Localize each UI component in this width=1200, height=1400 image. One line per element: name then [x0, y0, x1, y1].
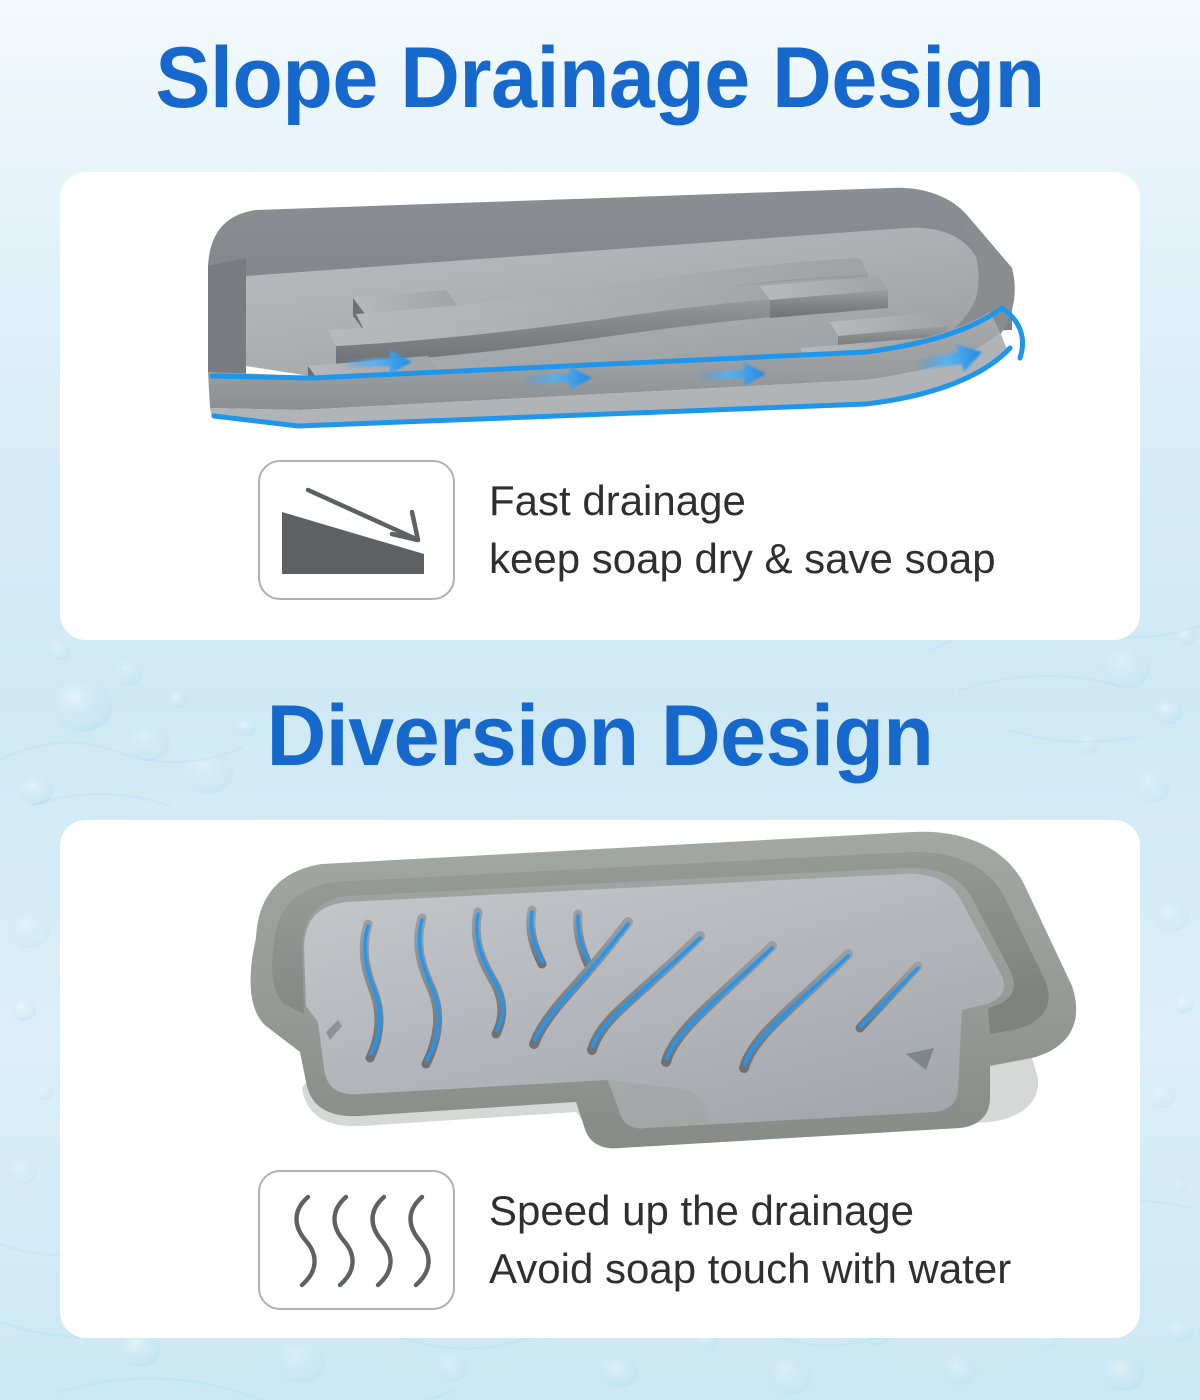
feature-row-fast-drainage: Fast drainage keep soap dry & save soap — [258, 460, 996, 600]
feature-caption-fast-drainage: Fast drainage keep soap dry & save soap — [489, 472, 996, 588]
caption-line-2: keep soap dry & save soap — [489, 530, 996, 588]
slope-arrow-icon — [258, 460, 455, 600]
product-image-diversion-design — [60, 826, 1140, 1166]
caption-line-1: Speed up the drainage — [489, 1182, 1011, 1240]
diversion-design-card: Speed up the drainage Avoid soap touch w… — [60, 820, 1140, 1338]
slope-drainage-card: Fast drainage keep soap dry & save soap — [60, 172, 1140, 640]
section-title-slope-drainage: Slope Drainage Design — [24, 35, 1176, 121]
infographic-page: Slope Drainage Design — [0, 0, 1200, 1400]
caption-line-1: Fast drainage — [489, 472, 996, 530]
product-image-slope-drainage — [60, 180, 1140, 442]
feature-caption-speed-up-drainage: Speed up the drainage Avoid soap touch w… — [489, 1182, 1011, 1298]
section-title-diversion-design: Diversion Design — [24, 693, 1176, 779]
caption-line-2: Avoid soap touch with water — [489, 1240, 1011, 1298]
wavy-lines-icon — [258, 1170, 455, 1310]
feature-row-speed-up-drainage: Speed up the drainage Avoid soap touch w… — [258, 1170, 1011, 1310]
